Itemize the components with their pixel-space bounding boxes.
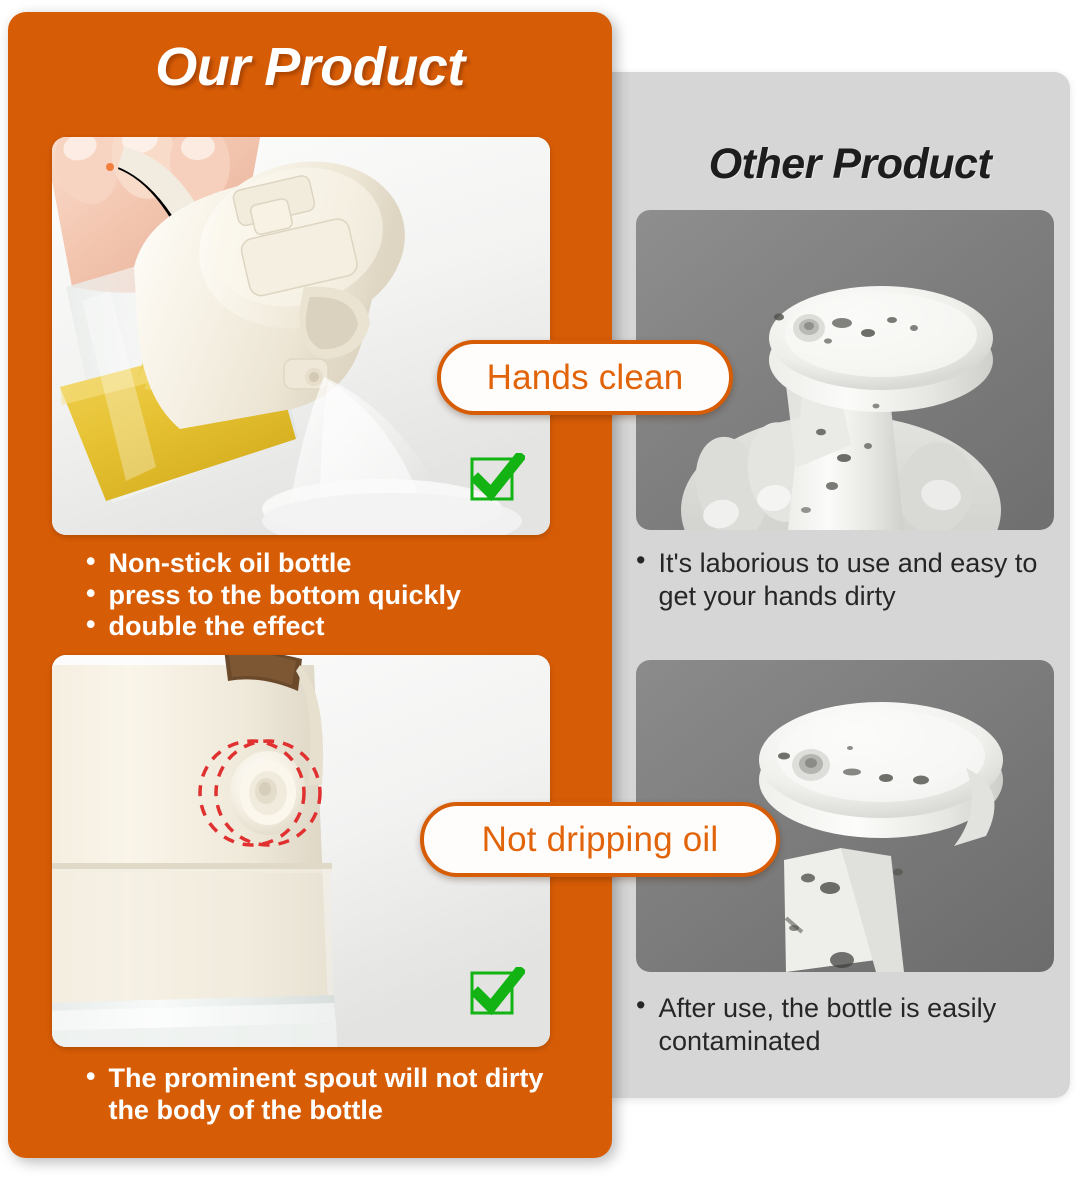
our-product-top-bullets: • Non-stick oil bottle • press to the bo…	[86, 548, 556, 643]
bullet-marker-icon: •	[86, 548, 95, 575]
list-item: • double the effect	[86, 611, 556, 643]
list-item-label: After use, the bottle is easily contamin…	[658, 992, 1061, 1057]
list-item-label: Non-stick oil bottle	[108, 548, 556, 580]
bullet-marker-icon: •	[636, 547, 645, 574]
badge-hands-clean: Hands clean	[437, 340, 733, 415]
bullet-marker-icon: •	[86, 580, 95, 607]
our-product-bottom-bullets: • The prominent spout will not dirty the…	[86, 1063, 566, 1126]
other-product-bottom-bullets: • After use, the bottle is easily contam…	[636, 992, 1061, 1057]
comparison-infographic: Other Product	[0, 0, 1080, 1182]
list-item: • press to the bottom quickly	[86, 580, 556, 612]
green-check-icon	[469, 453, 525, 509]
list-item: • After use, the bottle is easily contam…	[636, 992, 1061, 1057]
other-product-top-bullets: • It's laborious to use and easy to get …	[636, 547, 1061, 612]
bullet-marker-icon: •	[86, 1063, 95, 1090]
our-product-title: Our Product	[30, 36, 590, 98]
green-check-icon	[469, 967, 525, 1023]
other-product-title: Other Product	[650, 140, 1050, 189]
badge-not-dripping-oil: Not dripping oil	[420, 802, 780, 877]
list-item-label: It's laborious to use and easy to get yo…	[658, 547, 1061, 612]
bullet-marker-icon: •	[86, 611, 95, 638]
list-item-label: The prominent spout will not dirty the b…	[108, 1063, 566, 1126]
badge-hands-clean-label: Hands clean	[487, 358, 684, 398]
badge-not-dripping-oil-label: Not dripping oil	[482, 820, 719, 860]
list-item-label: press to the bottom quickly	[108, 580, 556, 612]
list-item: • It's laborious to use and easy to get …	[636, 547, 1061, 612]
bullet-marker-icon: •	[636, 992, 645, 1019]
list-item-label: double the effect	[108, 611, 556, 643]
list-item: • The prominent spout will not dirty the…	[86, 1063, 566, 1126]
list-item: • Non-stick oil bottle	[86, 548, 556, 580]
